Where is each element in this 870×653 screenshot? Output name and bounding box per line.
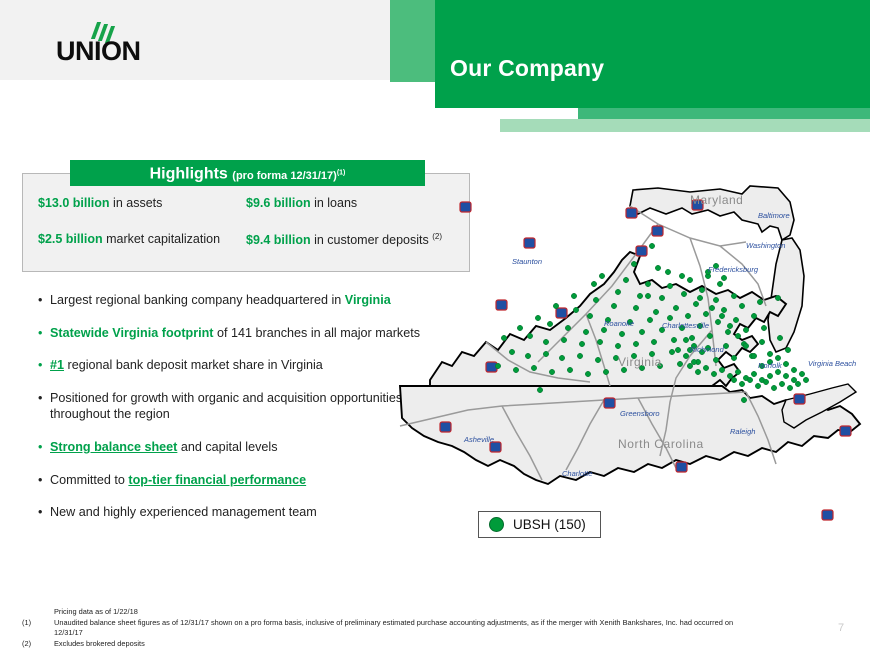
branch-dot [713, 297, 718, 302]
bullet-text: Strong balance sheet and capital levels [50, 439, 438, 456]
branch-dot [719, 313, 724, 318]
footnote-text: Excludes brokered deposits [54, 639, 742, 650]
bullet-text: New and highly experienced management te… [50, 504, 438, 521]
branch-dot [585, 371, 590, 376]
branch-dot [721, 275, 726, 280]
branch-dot [675, 347, 680, 352]
branch-dot [677, 361, 682, 366]
branch-dot [537, 387, 542, 392]
bullet-text-run: regional bank deposit market share in Vi… [64, 358, 323, 372]
bullet-text-run: and capital levels [177, 440, 277, 454]
branch-dot [637, 293, 642, 298]
branch-dot [597, 339, 602, 344]
branch-dot [667, 315, 672, 320]
branch-dot [695, 369, 700, 374]
bullet-text: Largest regional banking company headqua… [50, 292, 438, 309]
branch-dot [577, 353, 582, 358]
bullet-item: •#1 regional bank deposit market share i… [38, 357, 438, 374]
svg-text:Charlotte: Charlotte [562, 469, 592, 478]
legend-label: UBSH (150) [513, 517, 586, 532]
branch-dot [741, 397, 746, 402]
branch-dot [593, 297, 598, 302]
branch-dot [697, 295, 702, 300]
branch-dot [561, 337, 566, 342]
branch-dot [711, 371, 716, 376]
map-svg: Maryland Virginia North Carolina Baltimo… [390, 180, 870, 550]
branch-dot [743, 327, 748, 332]
bullet-text-run: Committed to [50, 473, 128, 487]
branch-dot [495, 363, 500, 368]
branch-dot [579, 341, 584, 346]
branch-dot [779, 381, 784, 386]
bullet-item: •Largest regional banking company headqu… [38, 292, 438, 309]
branch-dot [669, 349, 674, 354]
branch-dot [587, 313, 592, 318]
highlights-subheading: (pro forma 12/31/17)(1) [232, 170, 345, 182]
branch-dot [517, 325, 522, 330]
branch-dot [693, 301, 698, 306]
branch-dot [767, 351, 772, 356]
branch-dot [633, 305, 638, 310]
union-logo: UNION [56, 22, 166, 64]
branch-dot [665, 269, 670, 274]
highlights-header-bar: Highlights (pro forma 12/31/17)(1) [70, 160, 425, 186]
branch-dot [783, 361, 788, 366]
svg-text:Baltimore: Baltimore [758, 211, 790, 220]
bullet-text: Positioned for growth with organic and a… [50, 390, 438, 423]
branch-dot [633, 341, 638, 346]
svg-text:Virginia Beach: Virginia Beach [808, 359, 856, 368]
branch-dot [771, 385, 776, 390]
branch-dot [775, 295, 780, 300]
branch-dot [685, 313, 690, 318]
bullet-marker-icon: • [38, 390, 50, 423]
delmarva-outline [768, 238, 804, 352]
branch-dot [599, 273, 604, 278]
footnote-marker: (1) [22, 618, 54, 639]
branch-dot [763, 379, 768, 384]
branch-dot [571, 293, 576, 298]
header-light-green-strip [500, 119, 870, 132]
branch-dot [761, 325, 766, 330]
bullet-text-run: Statewide Virginia footprint [50, 326, 214, 340]
branch-dot [615, 343, 620, 348]
branch-dot [723, 343, 728, 348]
svg-text:North Carolina: North Carolina [618, 437, 704, 451]
svg-text:Greensboro: Greensboro [620, 409, 660, 418]
branch-dot [783, 373, 788, 378]
bullet-text: Committed to top-tier financial performa… [50, 472, 438, 489]
branch-dot [549, 369, 554, 374]
branch-dot [645, 281, 650, 286]
branch-dot [747, 377, 752, 382]
header-mid-green-block [390, 0, 436, 82]
branch-dot [775, 369, 780, 374]
branch-dot [567, 367, 572, 372]
svg-text:Fredericksburg: Fredericksburg [708, 265, 759, 274]
branch-dot [525, 353, 530, 358]
highlights-bullet-list: •Largest regional banking company headqu… [38, 292, 438, 537]
branch-dot [687, 277, 692, 282]
bullet-text-run: Positioned for growth with organic and a… [50, 391, 402, 422]
branch-dot [757, 299, 762, 304]
svg-text:Washington: Washington [746, 241, 785, 250]
svg-text:Roanoke: Roanoke [604, 319, 634, 328]
bullet-item: •Committed to top-tier financial perform… [38, 472, 438, 489]
branch-dot [759, 339, 764, 344]
bullet-marker-icon: • [38, 472, 50, 489]
bullet-marker-icon: • [38, 439, 50, 456]
branch-dot [767, 373, 772, 378]
branch-dot [743, 343, 748, 348]
branch-dot [731, 377, 736, 382]
branch-dot [655, 265, 660, 270]
branch-dot [573, 307, 578, 312]
bullet-text-run: top-tier financial performance [128, 473, 306, 487]
branch-dot [601, 327, 606, 332]
branch-dot [735, 369, 740, 374]
branch-dot [501, 335, 506, 340]
bullet-text-run: Strong balance sheet [50, 440, 177, 454]
branch-dot [787, 385, 792, 390]
branch-dot [651, 339, 656, 344]
branch-dot [681, 291, 686, 296]
branch-dot [631, 261, 636, 266]
legend-dot-icon [489, 517, 504, 532]
branch-dot [739, 303, 744, 308]
header-medium-green-strip [578, 108, 870, 119]
svg-text:Maryland: Maryland [690, 193, 743, 207]
branch-dot [709, 305, 714, 310]
svg-text:Richmond: Richmond [690, 345, 725, 354]
branch-dot [683, 353, 688, 358]
branch-dot [727, 323, 732, 328]
bullet-item: •New and highly experienced management t… [38, 504, 438, 521]
branch-dot [717, 281, 722, 286]
bullet-item: •Positioned for growth with organic and … [38, 390, 438, 423]
branch-dot [639, 329, 644, 334]
branch-footprint-map: Maryland Virginia North Carolina Baltimo… [390, 180, 870, 550]
branch-dot [645, 293, 650, 298]
highlights-heading: Highlights [150, 165, 228, 182]
branch-dot [715, 319, 720, 324]
bullet-item: •Statewide Virginia footprint of 141 bra… [38, 325, 438, 342]
branch-dot [703, 311, 708, 316]
branch-dot [603, 369, 608, 374]
bullet-text-run: Largest regional banking company headqua… [50, 293, 345, 307]
branch-dot [777, 335, 782, 340]
bullet-marker-icon: • [38, 504, 50, 521]
branch-dot [725, 329, 730, 334]
branch-dot [735, 333, 740, 338]
svg-text:Asheville: Asheville [463, 435, 494, 444]
branch-dot [733, 317, 738, 322]
page-title: Our Company [450, 55, 604, 82]
bullet-text-run: #1 [50, 358, 64, 372]
svg-text:Norfolk: Norfolk [758, 361, 783, 370]
branch-dot [509, 349, 514, 354]
branch-dot [543, 339, 548, 344]
bullet-text: Statewide Virginia footprint of 141 bran… [50, 325, 438, 342]
stat-market-cap: $2.5 billion market capitalization [38, 232, 246, 247]
svg-text:Charlottesville: Charlottesville [662, 321, 709, 330]
branch-dot [713, 357, 718, 362]
branch-dot [595, 357, 600, 362]
branch-dot [719, 367, 724, 372]
footnotes: Pricing data as of 1/22/18 (1) Unaudited… [22, 607, 742, 650]
branch-dot [527, 333, 532, 338]
branch-dot [667, 283, 672, 288]
footnote-item: (2) Excludes brokered deposits [22, 639, 742, 650]
branch-dot [727, 373, 732, 378]
branch-dot [795, 381, 800, 386]
branch-dot [615, 289, 620, 294]
footnote-item: (1) Unaudited balance sheet figures as o… [22, 618, 742, 639]
branch-dot [739, 381, 744, 386]
branch-dot [619, 331, 624, 336]
branch-dot [785, 347, 790, 352]
branch-dot [707, 333, 712, 338]
branch-dot [699, 287, 704, 292]
branch-dot [565, 325, 570, 330]
branch-dot [799, 371, 804, 376]
branch-dot [623, 277, 628, 282]
branch-dot [591, 281, 596, 286]
branch-dot [543, 351, 548, 356]
footnote-text: Unaudited balance sheet figures as of 12… [54, 618, 742, 639]
svg-text:Virginia: Virginia [618, 355, 662, 369]
branch-dot [659, 295, 664, 300]
branch-dot [689, 335, 694, 340]
branch-dot [679, 273, 684, 278]
branch-dot [751, 313, 756, 318]
branch-dot [775, 355, 780, 360]
page-number: 7 [838, 622, 844, 634]
svg-text:Raleigh: Raleigh [730, 427, 755, 436]
branch-dot [559, 355, 564, 360]
branch-dot [791, 367, 796, 372]
branch-dot [649, 243, 654, 248]
branch-dot [583, 329, 588, 334]
branch-dot [731, 355, 736, 360]
bullet-marker-icon: • [38, 357, 50, 374]
branch-dot [703, 365, 708, 370]
branch-dot [721, 307, 726, 312]
branch-dot [513, 367, 518, 372]
branch-dot [687, 363, 692, 368]
branch-dot [731, 293, 736, 298]
branch-dot [547, 321, 552, 326]
branch-dot [791, 377, 796, 382]
branch-dot [611, 303, 616, 308]
bullet-item: •Strong balance sheet and capital levels [38, 439, 438, 456]
logo-wordmark: UNION [56, 36, 141, 67]
bullet-marker-icon: • [38, 325, 50, 342]
slide-canvas: Our Company UNION Highlights (pro forma … [0, 0, 870, 653]
branch-dot [751, 371, 756, 376]
svg-text:Staunton: Staunton [512, 257, 542, 266]
branch-dot [673, 305, 678, 310]
branch-dot [683, 337, 688, 342]
branch-dot [803, 377, 808, 382]
bullet-text-run: New and highly experienced management te… [50, 505, 317, 519]
branch-dot [691, 359, 696, 364]
stat-loans: $9.6 billion in loans [246, 196, 357, 210]
stat-assets: $13.0 billion in assets [38, 196, 246, 210]
map-legend: UBSH (150) [478, 511, 601, 538]
branch-dot [535, 315, 540, 320]
branch-dot [751, 353, 756, 358]
header-green-banner [435, 0, 870, 108]
branch-dot [531, 365, 536, 370]
branch-dot [553, 303, 558, 308]
bullet-text-run: Virginia [345, 293, 391, 307]
footnote-marker: (2) [22, 639, 54, 650]
bullet-marker-icon: • [38, 292, 50, 309]
branch-dot [755, 383, 760, 388]
bullet-text: #1 regional bank deposit market share in… [50, 357, 438, 374]
branch-dot [647, 317, 652, 322]
branch-dot [653, 309, 658, 314]
branch-dot [671, 337, 676, 342]
footnote-pricing: Pricing data as of 1/22/18 [54, 607, 742, 618]
